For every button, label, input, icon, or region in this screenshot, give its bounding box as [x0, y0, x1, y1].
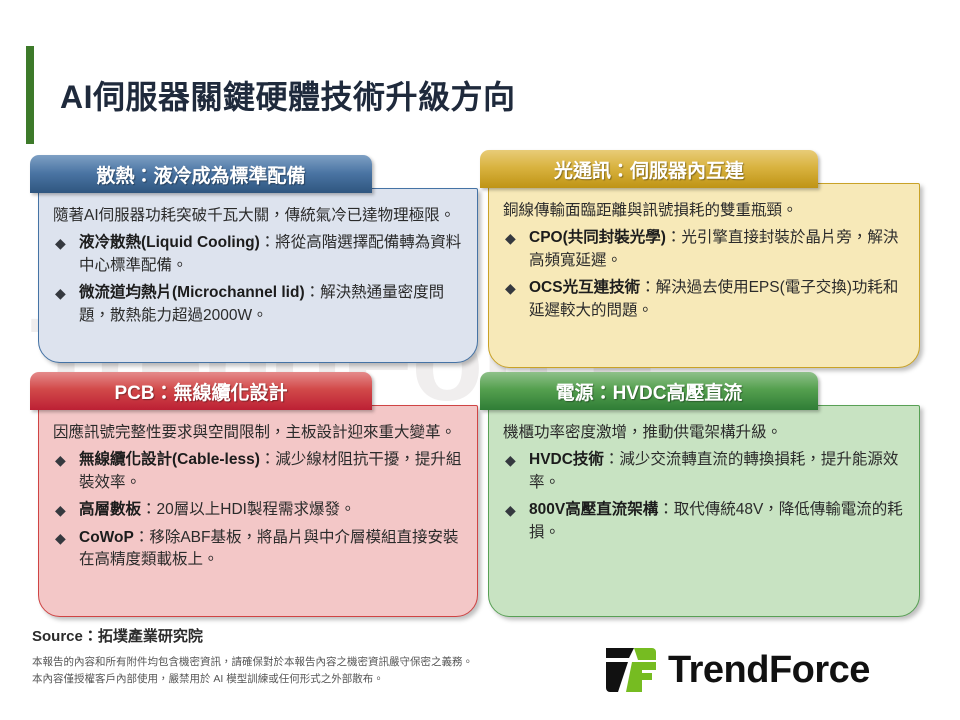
- trendforce-logo-mark-icon: [604, 646, 658, 694]
- list-item: ◆ 微流道均熱片(Microchannel lid)：解決熱通量密度問題，散熱能…: [53, 282, 463, 327]
- diamond-bullet-icon: ◆: [505, 228, 516, 248]
- card-cooling-body: 隨著AI伺服器功耗突破千瓦大關，傳統氣冷已達物理極限。 ◆ 液冷散熱(Liqui…: [38, 188, 478, 363]
- card-cooling-bullet-list: ◆ 液冷散熱(Liquid Cooling)：將從高階選擇配備轉為資料中心標準配…: [53, 232, 463, 327]
- card-optical-title: 光通訊：伺服器內互連: [554, 156, 744, 183]
- card-pcb-bullet-list: ◆ 無線纜化設計(Cable-less)：減少線材阻抗干擾，提升組裝效率。 ◆ …: [53, 449, 463, 571]
- trendforce-logo: TrendForce: [604, 646, 870, 694]
- list-item: ◆ CoWoP：移除ABF基板，將晶片與中介層模組直接安裝在高精度類載板上。: [53, 527, 463, 572]
- bullet-desc: ：移除ABF基板，將晶片與中介層模組直接安裝在高精度類載板上。: [79, 529, 458, 568]
- card-optical-bullet-list: ◆ CPO(共同封裝光學)：光引擎直接封裝於晶片旁，解決高頻寬延遲。 ◆ OCS…: [503, 227, 905, 322]
- card-cooling-title: 散熱：液冷成為標準配備: [96, 161, 305, 188]
- list-item: ◆ 無線纜化設計(Cable-less)：減少線材阻抗干擾，提升組裝效率。: [53, 449, 463, 494]
- list-item: ◆ HVDC技術：減少交流轉直流的轉換損耗，提升能源效率。: [503, 449, 905, 494]
- card-power-body: 機櫃功率密度激增，推動供電架構升級。 ◆ HVDC技術：減少交流轉直流的轉換損耗…: [488, 405, 920, 617]
- diamond-bullet-icon: ◆: [55, 500, 66, 520]
- card-power-title: 電源：HVDC高壓直流: [556, 378, 743, 405]
- card-pcb-header: PCB：無線纜化設計: [30, 372, 372, 410]
- card-optical-body: 銅線傳輸面臨距離與訊號損耗的雙重瓶頸。 ◆ CPO(共同封裝光學)：光引擎直接封…: [488, 183, 920, 368]
- card-cooling-header: 散熱：液冷成為標準配備: [30, 155, 372, 193]
- card-optical: 光通訊：伺服器內互連 銅線傳輸面臨距離與訊號損耗的雙重瓶頸。 ◆ CPO(共同封…: [480, 150, 925, 365]
- card-cooling-lead: 隨著AI伺服器功耗突破千瓦大關，傳統氣冷已達物理極限。: [53, 205, 463, 227]
- bullet-term: CoWoP: [79, 529, 134, 546]
- bullet-term: CPO(共同封裝光學): [529, 229, 666, 246]
- card-cooling: 散熱：液冷成為標準配備 隨著AI伺服器功耗突破千瓦大關，傳統氣冷已達物理極限。 …: [30, 155, 480, 363]
- list-item: ◆ 800V高壓直流架構：取代傳統48V，降低傳輸電流的耗損。: [503, 499, 905, 544]
- list-item: ◆ 液冷散熱(Liquid Cooling)：將從高階選擇配備轉為資料中心標準配…: [53, 232, 463, 277]
- disclaimer-line-2: 本內容僅授權客戶內部使用，嚴禁用於 AI 模型訓練或任何形式之外部散布。: [32, 671, 473, 688]
- disclaimer-line-1: 本報告的內容和所有附件均包含機密資訊，請確保對於本報告內容之機密資訊嚴守保密之義…: [32, 654, 473, 671]
- diamond-bullet-icon: ◆: [55, 450, 66, 470]
- diamond-bullet-icon: ◆: [505, 450, 516, 470]
- diamond-bullet-icon: ◆: [55, 283, 66, 303]
- diamond-bullet-icon: ◆: [55, 233, 66, 253]
- list-item: ◆ CPO(共同封裝光學)：光引擎直接封裝於晶片旁，解決高頻寬延遲。: [503, 227, 905, 272]
- title-accent-bar: [26, 46, 34, 144]
- diamond-bullet-icon: ◆: [505, 278, 516, 298]
- card-power: 電源：HVDC高壓直流 機櫃功率密度激增，推動供電架構升級。 ◆ HVDC技術：…: [480, 372, 925, 617]
- card-optical-lead: 銅線傳輸面臨距離與訊號損耗的雙重瓶頸。: [503, 200, 905, 222]
- bullet-term: 微流道均熱片(Microchannel lid): [79, 284, 305, 301]
- bullet-term: 無線纜化設計(Cable-less): [79, 451, 260, 468]
- page-title: AI伺服器關鍵硬體技術升級方向: [60, 72, 516, 118]
- list-item: ◆ OCS光互連技術：解決過去使用EPS(電子交換)功耗和延遲較大的問題。: [503, 277, 905, 322]
- diamond-bullet-icon: ◆: [55, 528, 66, 548]
- card-power-bullet-list: ◆ HVDC技術：減少交流轉直流的轉換損耗，提升能源效率。 ◆ 800V高壓直流…: [503, 449, 905, 544]
- list-item: ◆ 高層數板：20層以上HDI製程需求爆發。: [53, 499, 463, 521]
- card-pcb-lead: 因應訊號完整性要求與空間限制，主板設計迎來重大變革。: [53, 422, 463, 444]
- source-label: Source：拓墣產業研究院: [32, 625, 473, 646]
- bullet-term: 800V高壓直流架構: [529, 501, 658, 518]
- card-pcb-body: 因應訊號完整性要求與空間限制，主板設計迎來重大變革。 ◆ 無線纜化設計(Cabl…: [38, 405, 478, 617]
- trendforce-logo-text: TrendForce: [668, 651, 870, 689]
- card-pcb-title: PCB：無線纜化設計: [114, 378, 287, 405]
- bullet-term: 高層數板: [79, 501, 141, 518]
- bullet-term: 液冷散熱(Liquid Cooling): [79, 234, 260, 251]
- bullet-term: OCS光互連技術: [529, 279, 640, 296]
- card-optical-header: 光通訊：伺服器內互連: [480, 150, 818, 188]
- footer: Source：拓墣產業研究院 本報告的內容和所有附件均包含機密資訊，請確保對於本…: [32, 625, 473, 688]
- bullet-term: HVDC技術: [529, 451, 604, 468]
- page-header: AI伺服器關鍵硬體技術升級方向: [26, 46, 516, 144]
- diamond-bullet-icon: ◆: [505, 500, 516, 520]
- card-pcb: PCB：無線纜化設計 因應訊號完整性要求與空間限制，主板設計迎來重大變革。 ◆ …: [30, 372, 480, 617]
- card-power-lead: 機櫃功率密度激增，推動供電架構升級。: [503, 422, 905, 444]
- bullet-desc: ：20層以上HDI製程需求爆發。: [141, 501, 355, 518]
- card-power-header: 電源：HVDC高壓直流: [480, 372, 818, 410]
